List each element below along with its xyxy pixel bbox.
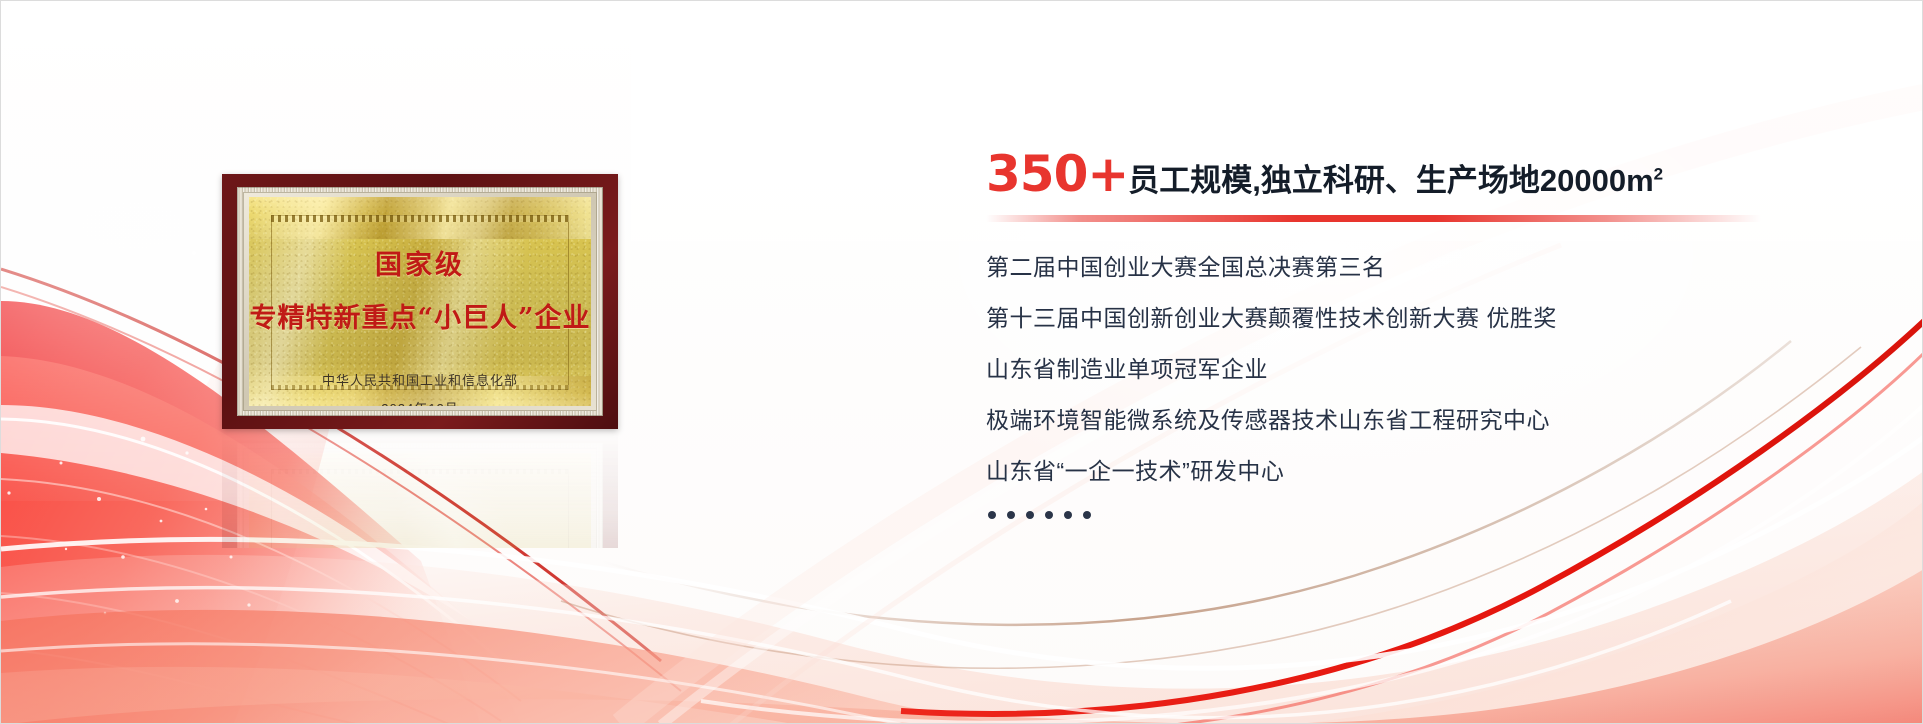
honor-item: 第二届中国创业大赛全国总决赛第三名 (986, 256, 1826, 279)
headline-text: 员工规模,独立科研、生产场地20000m (1128, 165, 1653, 196)
plaque-inner-silver-border: 国家级 专精特新重点“小巨人”企业 中华人民共和国工业和信息化部 2024年12… (243, 192, 597, 411)
ellipsis-dot (1083, 511, 1091, 519)
honor-item: 第十三届中国创新创业大赛颠覆性技术创新大赛 优胜奖 (986, 307, 1826, 330)
headline-superscript: 2 (1654, 165, 1663, 196)
headline: 350+员工规模,独立科研、生产场地20000m2 (986, 149, 1826, 199)
ellipsis-dot (988, 511, 996, 519)
plaque-gold-plate: 国家级 专精特新重点“小巨人”企业 中华人民共和国工业和信息化部 2024年12… (249, 197, 591, 406)
honor-item: 极端环境智能微系统及传感器技术山东省工程研究中心 (986, 409, 1826, 432)
content-column: 350+员工规模,独立科研、生产场地20000m2 第二届中国创业大赛全国总决赛… (986, 149, 1826, 519)
honors-banner: 国家级 专精特新重点“小巨人”企业 中华人民共和国工业和信息化部 2024年12… (0, 0, 1923, 724)
honor-item: 山东省“一企一技术”研发中心 (986, 460, 1826, 483)
ellipsis-dot (1045, 511, 1053, 519)
plaque-title-line-1: 国家级 (375, 243, 465, 282)
award-plaque: 国家级 专精特新重点“小巨人”企业 中华人民共和国工业和信息化部 2024年12… (222, 174, 618, 429)
plaque-title-line-2: 专精特新重点“小巨人”企业 (249, 296, 590, 335)
ellipsis-dot (1007, 511, 1015, 519)
honor-list: 第二届中国创业大赛全国总决赛第三名 第十三届中国创新创业大赛颠覆性技术创新大赛 … (986, 256, 1826, 519)
ellipsis-dot (1026, 511, 1034, 519)
plaque-date: 2024年12月 (381, 398, 458, 406)
honor-item: 山东省制造业单项冠军企业 (986, 358, 1826, 381)
headline-divider (986, 215, 1761, 222)
plaque-issuer: 中华人民共和国工业和信息化部 (322, 370, 518, 389)
plaque-ornate-silver-border: 国家级 专精特新重点“小巨人”企业 中华人民共和国工业和信息化部 2024年12… (237, 187, 603, 416)
ellipsis-dot (1064, 511, 1072, 519)
plaque-text-block: 国家级 专精特新重点“小巨人”企业 中华人民共和国工业和信息化部 2024年12… (249, 197, 591, 406)
plaque-outer-frame: 国家级 专精特新重点“小巨人”企业 中华人民共和国工业和信息化部 2024年12… (222, 174, 618, 429)
headline-number: 350+ (986, 149, 1128, 199)
ellipsis-dots (986, 511, 1826, 519)
